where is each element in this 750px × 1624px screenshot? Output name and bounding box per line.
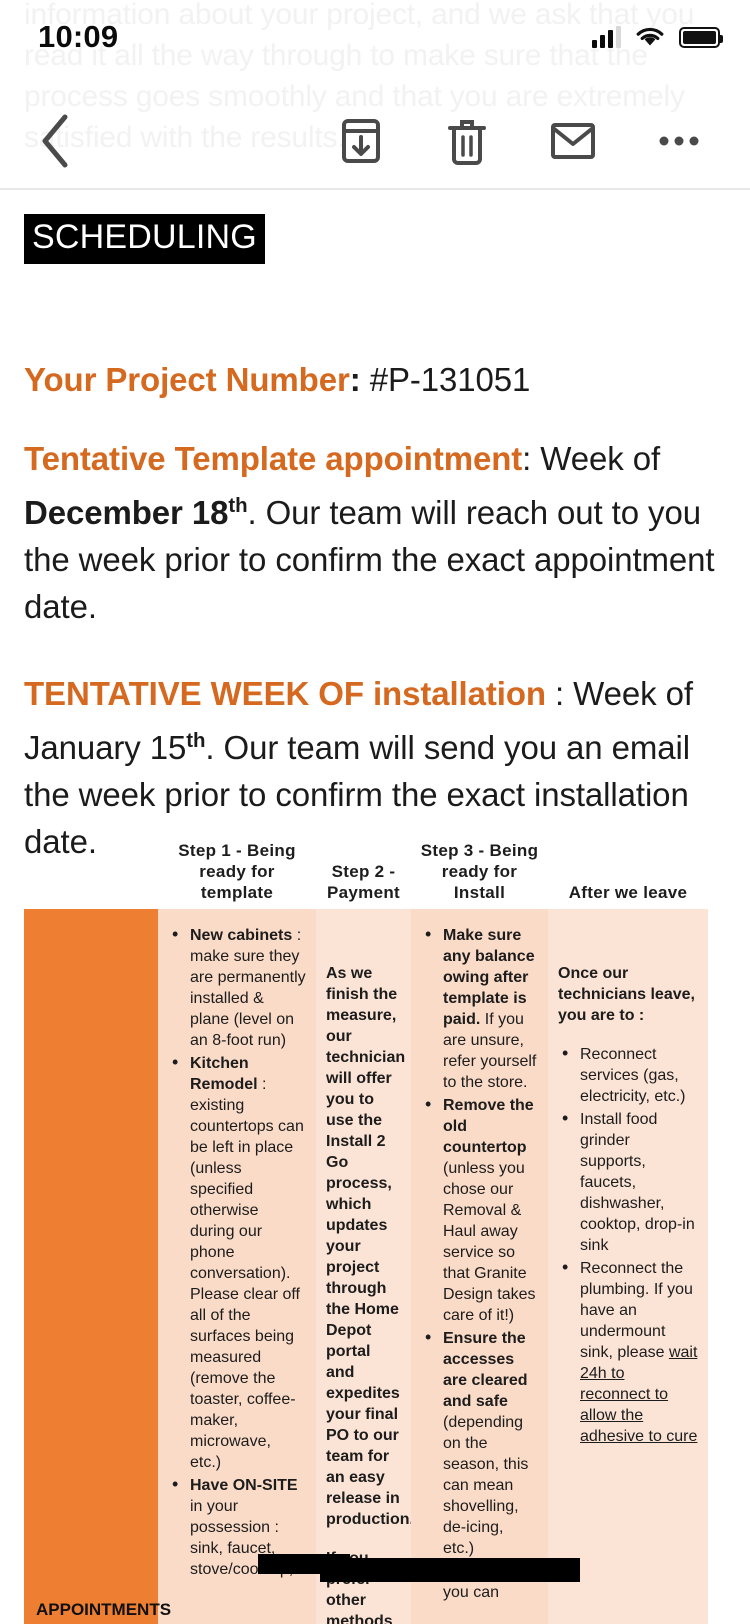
status-bar-icons <box>592 26 720 48</box>
list-item-bold: New cabinets <box>190 927 292 944</box>
cellular-signal-icon <box>592 26 621 48</box>
list-item: New cabinets : make sure they are perman… <box>168 925 306 1051</box>
column-header-step1: Step 1 - Being ready for template <box>158 840 316 909</box>
after-list: Reconnect services (gas, electricity, et… <box>558 1044 698 1447</box>
archive-download-icon <box>340 117 382 165</box>
list-item-text: existing countertops can be left in plac… <box>190 1097 304 1471</box>
list-item: Install food grinder supports, faucets, … <box>558 1109 698 1256</box>
list-item-text: you can <box>443 1584 499 1601</box>
template-date-ordinal: th <box>228 494 247 517</box>
step2-cell: As we finish the measure, our technician… <box>316 909 411 1624</box>
email-body: SCHEDULING Your Project Number: #P-13105… <box>0 200 750 865</box>
list-item: Make sure any balance owing after templa… <box>421 925 538 1093</box>
toolbar-divider <box>0 188 750 190</box>
step2-paragraph-1: As we finish the measure, our technician… <box>326 963 401 1530</box>
after-intro: Once our technicians leave, you are to : <box>558 963 698 1026</box>
install-week-paragraph: TENTATIVE WEEK OF installation : Week of… <box>24 670 726 865</box>
template-label: Tentative Template appointment <box>24 440 522 477</box>
template-sep: : Week of <box>522 440 660 477</box>
appointments-side-column: APPOINTMENTS take place Monday to Friday… <box>24 909 158 1624</box>
appointments-note: APPOINTMENTS take place Monday to Friday… <box>36 1599 150 1624</box>
install-date: January 15 <box>24 729 186 766</box>
envelope-icon <box>550 121 596 161</box>
step3-list: Make sure any balance owing after templa… <box>421 925 538 1603</box>
steps-table-body-row: APPOINTMENTS take place Monday to Friday… <box>0 909 750 1624</box>
back-button[interactable] <box>0 113 110 169</box>
toolbar-actions <box>338 118 750 164</box>
column-header-step3: Step 3 - Being ready for Install <box>411 840 548 909</box>
redaction-bar <box>320 1558 580 1582</box>
project-number-label: Your Project Number <box>24 361 350 398</box>
list-item-bold: Ensure the accesses are cleared and safe <box>443 1330 528 1410</box>
project-number-sep: : <box>350 361 370 398</box>
list-item-text: Install food grinder supports, faucets, … <box>580 1111 695 1254</box>
back-chevron-icon <box>38 113 72 169</box>
list-item-sep: : <box>292 927 301 944</box>
list-item: Remove the old countertop (unless you ch… <box>421 1095 538 1326</box>
trash-icon <box>447 117 487 165</box>
template-date: December 18 <box>24 494 228 531</box>
install-date-ordinal: th <box>186 729 205 752</box>
list-item-sep: in your possession : <box>190 1498 279 1536</box>
step1-list: New cabinets : make sure they are perman… <box>168 925 306 1580</box>
email-reader-screen: information about your project, and we a… <box>0 0 750 1624</box>
steps-table-header-row: Step 1 - Being ready for template Step 2… <box>0 840 750 909</box>
step3-cell: Make sure any balance owing after templa… <box>411 909 548 1624</box>
more-options-button[interactable] <box>656 118 702 164</box>
list-item: Reconnect the plumbing. If you have an u… <box>558 1258 698 1447</box>
scheduling-heading-wrap: SCHEDULING <box>24 214 726 264</box>
install-sep: : Week of <box>546 675 693 712</box>
list-item: Reconnect services (gas, electricity, et… <box>558 1044 698 1107</box>
install-label: TENTATIVE WEEK OF installation <box>24 675 546 712</box>
list-item-bold: Have ON-SITE <box>190 1477 298 1494</box>
list-item-text: make sure they are permanently installed… <box>190 948 306 1049</box>
mark-unread-button[interactable] <box>550 118 596 164</box>
battery-icon <box>679 27 720 48</box>
column-header-step2: Step 2 - Payment <box>316 861 411 909</box>
step1-cell: New cabinets : make sure they are perman… <box>158 909 316 1624</box>
list-item-bold: Remove the old countertop <box>443 1097 534 1156</box>
archive-button[interactable] <box>338 118 384 164</box>
list-item: Kitchen Remodel : existing countertops c… <box>168 1053 306 1473</box>
mail-toolbar <box>0 100 750 182</box>
column-header-after: After we leave <box>548 882 708 909</box>
wifi-icon <box>635 26 665 48</box>
delete-button[interactable] <box>444 118 490 164</box>
list-item-text: Reconnect services (gas, electricity, et… <box>580 1046 686 1105</box>
list-item-bold: Kitchen Remodel <box>190 1055 258 1093</box>
project-number-value: #P-131051 <box>370 361 531 398</box>
after-we-leave-cell: Once our technicians leave, you are to :… <box>548 909 708 1624</box>
list-item-text: (unless you chose our Removal & Haul awa… <box>443 1160 536 1324</box>
list-item-sep: : <box>258 1076 267 1093</box>
status-bar-clock: 10:09 <box>38 19 118 55</box>
scheduling-heading: SCHEDULING <box>24 214 265 264</box>
list-item: Ensure the accesses are cleared and safe… <box>421 1328 538 1559</box>
steps-table: Step 1 - Being ready for template Step 2… <box>0 840 750 1624</box>
more-options-icon <box>658 134 700 148</box>
status-bar: 10:09 <box>0 0 750 74</box>
template-appointment-paragraph: Tentative Template appointment: Week of … <box>24 435 726 630</box>
project-number-line: Your Project Number: #P-131051 <box>24 356 726 403</box>
list-item-text: (depending on the season, this can mean … <box>443 1414 528 1557</box>
